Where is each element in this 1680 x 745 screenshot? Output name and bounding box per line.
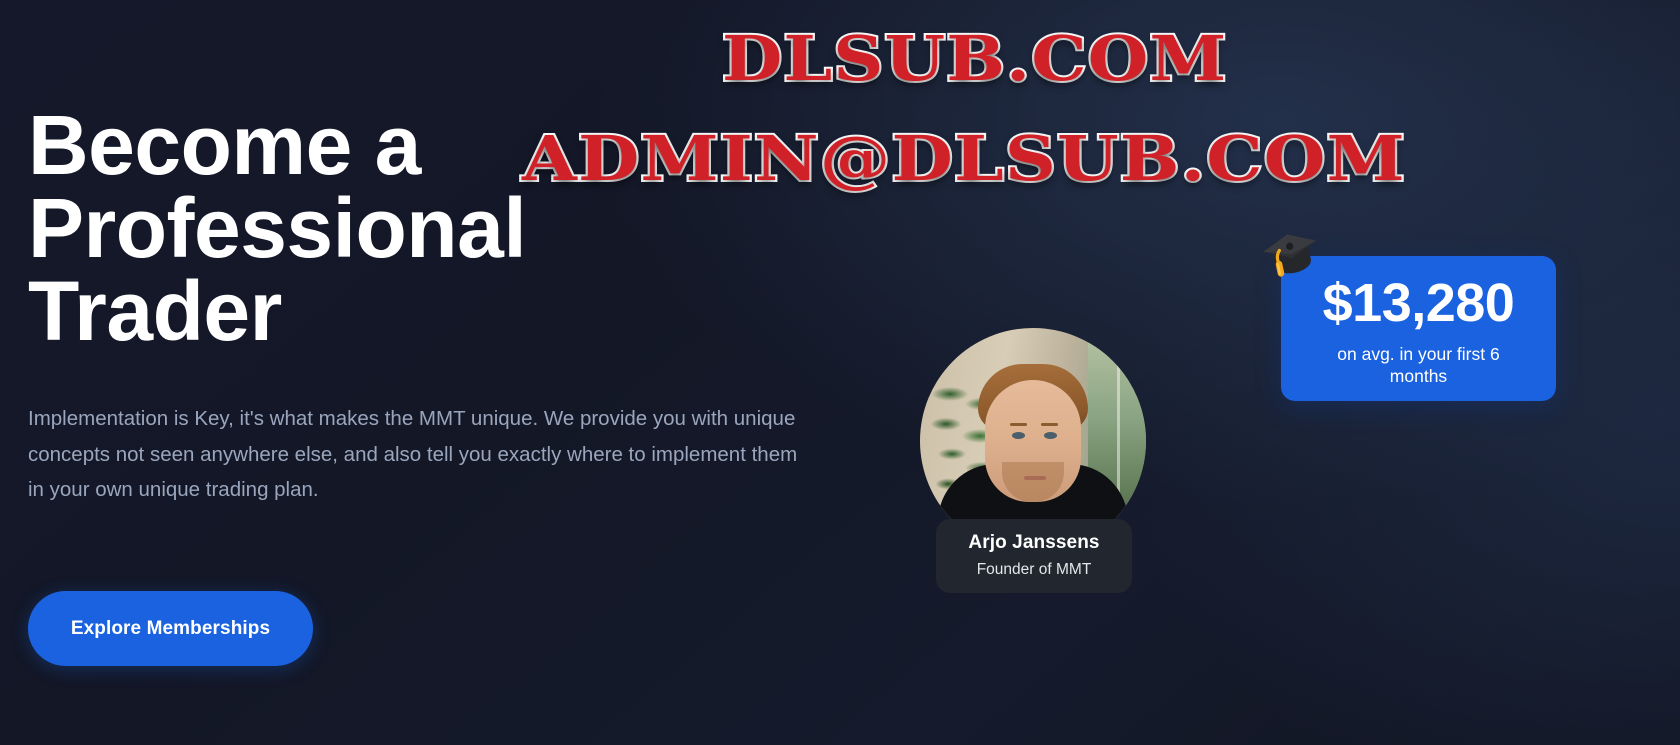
- watermark-email: ADMIN@DLSUB.COM: [522, 122, 1406, 195]
- hero-section: Become a Professional Trader Implementat…: [0, 0, 1680, 745]
- earnings-caption: on avg. in your first 6 months: [1307, 344, 1530, 388]
- photo-person-eye-left: [1012, 432, 1025, 439]
- hero-description: Implementation is Key, it's what makes t…: [28, 401, 803, 507]
- founder-role: Founder of MMT: [946, 561, 1122, 579]
- founder-name-plate: Arjo Janssens Founder of MMT: [936, 519, 1132, 593]
- founder-name: Arjo Janssens: [946, 532, 1122, 554]
- photo-person-brow-right: [1041, 423, 1058, 426]
- explore-memberships-button[interactable]: Explore Memberships: [28, 591, 313, 666]
- earnings-amount: $13,280: [1281, 276, 1556, 330]
- headline-line-2: Professional: [28, 187, 848, 270]
- watermark-site: DLSUB.COM: [722, 22, 1227, 95]
- photo-person-brow-left: [1010, 423, 1027, 426]
- photo-person-mouth: [1024, 476, 1046, 480]
- photo-person-eye-right: [1044, 432, 1057, 439]
- headline-line-3: Trader: [28, 270, 848, 353]
